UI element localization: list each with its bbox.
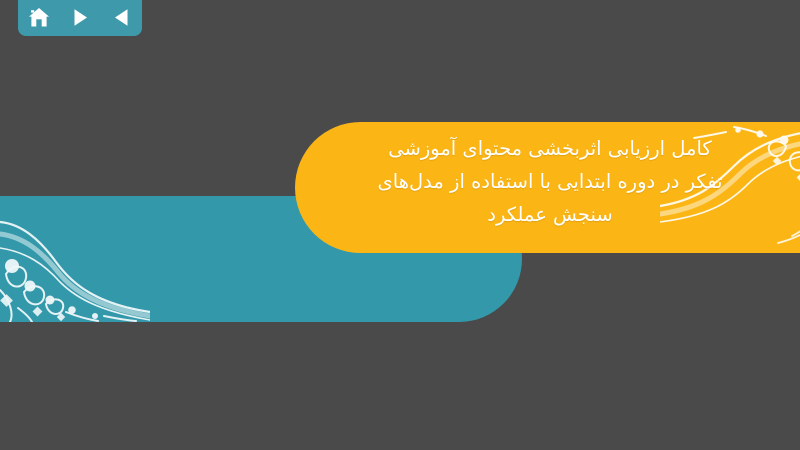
arabesque-ornament-teal [0,204,150,322]
slide-canvas: کامل ارزیابی اثربخشی محتوای آموزشی تفکر … [0,0,800,450]
slide-title: کامل ارزیابی اثربخشی محتوای آموزشی تفکر … [300,132,800,231]
title-line-1: کامل ارزیابی اثربخشی محتوای آموزشی [300,132,800,165]
navigation-bar [18,0,142,36]
triangle-right-icon [72,8,89,27]
title-line-3: سنجش عملکرد [300,198,800,231]
previous-slide-button[interactable] [108,5,134,29]
triangle-left-icon [113,8,130,27]
home-icon [28,7,50,28]
home-button[interactable] [26,5,52,29]
next-slide-button[interactable] [67,5,93,29]
title-line-2: تفکر در دوره ابتدایی با استفاده از مدل‌ه… [300,165,800,198]
